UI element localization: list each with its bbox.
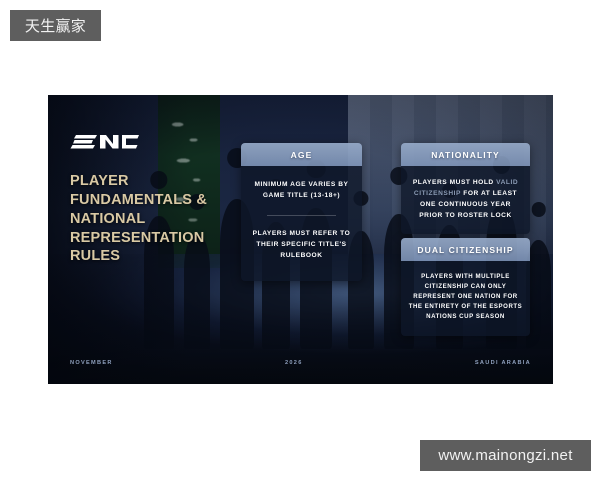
card-nationality[interactable]: NATIONALITY PLAYERS MUST HOLD VALID CITI… [401,143,530,234]
card-dual-citizenship-body: PLAYERS WITH MULTIPLE CITIZENSHIP CAN ON… [401,261,530,336]
card-age[interactable]: AGE MINIMUM AGE VARIES BY GAME TITLE (13… [241,143,362,281]
enc-logo-icon [70,133,140,152]
card-age-divider [267,215,336,216]
card-nationality-text-before: PLAYERS MUST HOLD [413,179,496,186]
footer-month: NOVEMBER [70,360,113,366]
card-dual-citizenship[interactable]: DUAL CITIZENSHIP PLAYERS WITH MULTIPLE C… [401,238,530,336]
card-dual-citizenship-title: DUAL CITIZENSHIP [401,238,530,261]
footer-country: SAUDI ARABIA [475,360,531,366]
footer-year: 2026 [113,360,475,366]
card-age-body: MINIMUM AGE VARIES BY GAME TITLE (13-18+… [241,166,362,281]
card-age-line-1: MINIMUM AGE VARIES BY GAME TITLE (13-18+… [249,180,354,202]
watermark-top-left: 天生赢家 [10,10,101,41]
slide-footer: NOVEMBER 2026 SAUDI ARABIA [48,356,553,370]
card-nationality-title: NATIONALITY [401,143,530,166]
slide-image: PLAYER FUNDAMENTALS & NATIONAL REPRESENT… [48,95,553,384]
card-nationality-body: PLAYERS MUST HOLD VALID CITIZENSHIP FOR … [401,166,530,234]
card-age-line-2: PLAYERS MUST REFER TO THEIR SPECIFIC TIT… [249,229,354,262]
watermark-bottom-right: www.mainongzi.net [420,440,591,471]
card-age-title: AGE [241,143,362,166]
headline-block: PLAYER FUNDAMENTALS & NATIONAL REPRESENT… [70,133,245,266]
page-title: PLAYER FUNDAMENTALS & NATIONAL REPRESENT… [70,172,245,266]
